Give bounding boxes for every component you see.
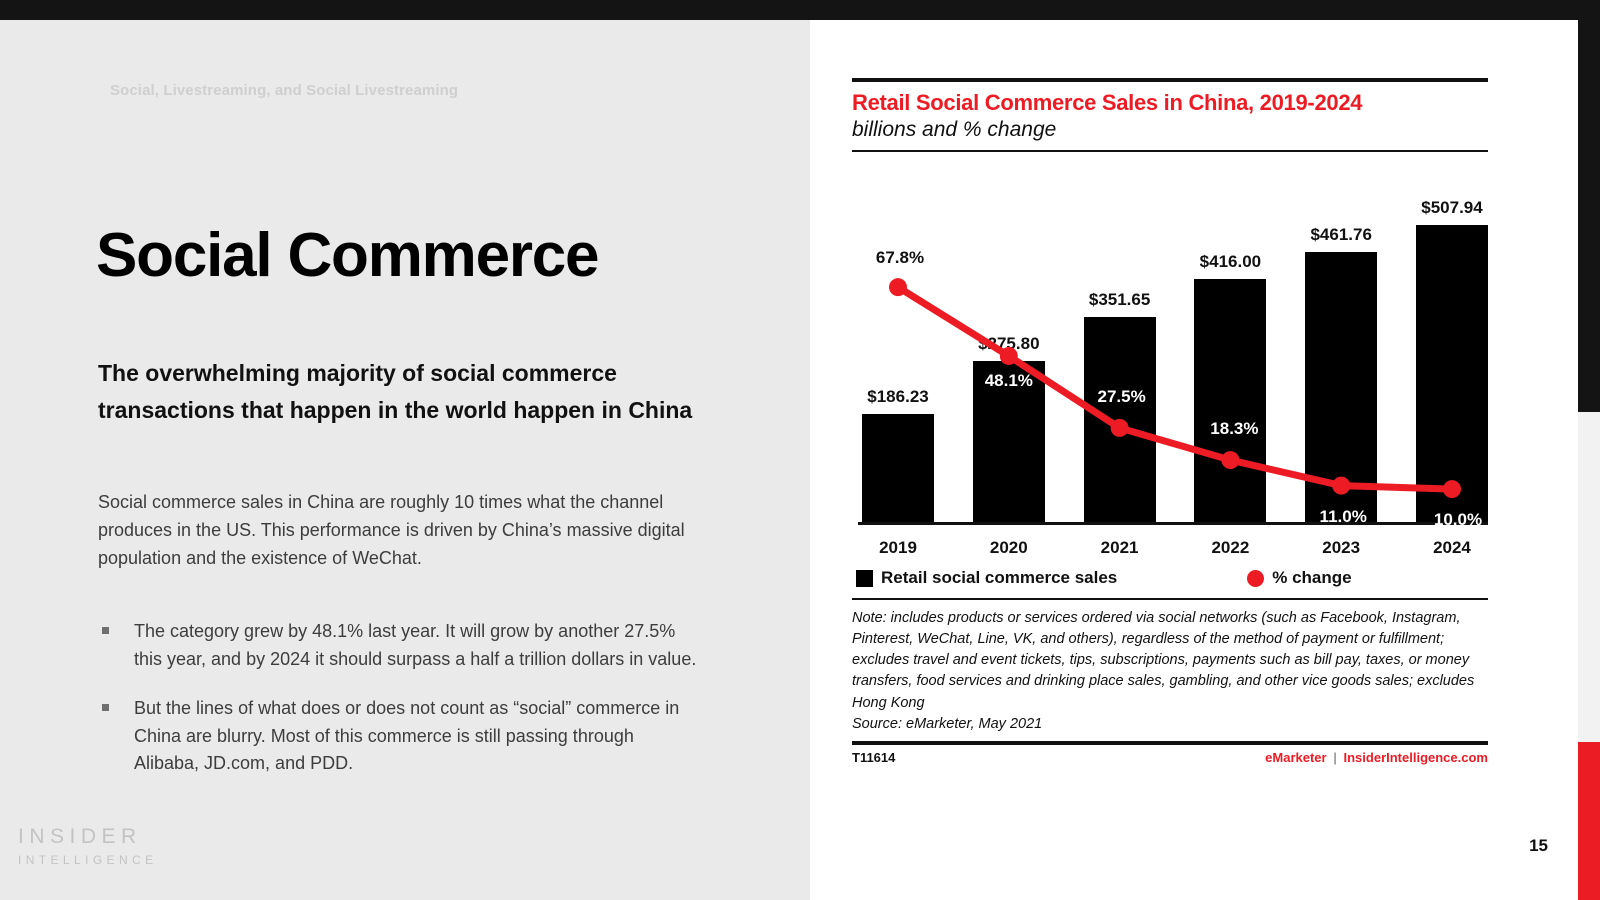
legend-square-icon [856, 570, 873, 587]
percent-change-value-label: 48.1% [985, 371, 1033, 391]
bar-value-label: $416.00 [1200, 252, 1261, 272]
list-item-text: But the lines of what does or does not c… [134, 698, 679, 773]
chart-note: Note: includes products or services orde… [852, 608, 1488, 714]
list-item: The category grew by 48.1% last year. It… [98, 618, 698, 673]
bar-value-label: $351.65 [1089, 290, 1150, 310]
bar-value-label: $186.23 [867, 387, 928, 407]
right-edge-dark-strip [1578, 0, 1600, 412]
bullet-square-icon [102, 627, 109, 634]
chart-plot-area: $186.23$275.80$351.65$416.00$461.76$507.… [852, 176, 1488, 566]
legend-circle-icon [1247, 570, 1264, 587]
percent-change-value-label: 27.5% [1097, 387, 1145, 407]
bar-slot: $275.80 [973, 194, 1045, 524]
bar-slot: $507.94 [1416, 194, 1488, 524]
bar[interactable] [1194, 279, 1266, 524]
top-accent-bar [0, 0, 1600, 20]
bullet-square-icon [102, 704, 109, 711]
x-axis-tick-label: 2019 [862, 538, 934, 558]
list-item-text: The category grew by 48.1% last year. It… [134, 621, 696, 669]
x-axis-line [858, 522, 1488, 525]
chart-card: Retail Social Commerce Sales in China, 2… [852, 78, 1488, 765]
chart-title: Retail Social Commerce Sales in China, 2… [852, 90, 1488, 116]
bar-value-label: $507.94 [1421, 198, 1482, 218]
bar[interactable] [1084, 317, 1156, 524]
legend-item-pct-change: % change [1247, 568, 1351, 588]
bar[interactable] [862, 414, 934, 524]
bar-value-label: $275.80 [978, 334, 1039, 354]
chart-code: T11614 [852, 750, 895, 765]
chart-note-rule [852, 598, 1488, 600]
brand-emarketer: eMarketer [1265, 750, 1326, 765]
x-axis-tick-label: 2023 [1305, 538, 1377, 558]
right-edge-gray-strip [1578, 412, 1600, 742]
percent-change-value-label: 67.8% [876, 248, 924, 268]
chart-footer: T11614 eMarketer | InsiderIntelligence.c… [852, 750, 1488, 765]
bar[interactable] [1416, 225, 1488, 524]
x-axis-tick-label: 2024 [1416, 538, 1488, 558]
x-axis-tick-labels: 201920202021202220232024 [862, 538, 1488, 558]
right-edge-red-strip [1578, 742, 1600, 900]
chart-header-rule [852, 150, 1488, 152]
logo-line-intelligence: INTELLIGENCE [18, 853, 158, 867]
bar-slot: $461.76 [1305, 194, 1377, 524]
x-axis-tick-label: 2021 [1084, 538, 1156, 558]
chart-subtitle: billions and % change [852, 118, 1488, 142]
x-axis-tick-label: 2020 [973, 538, 1045, 558]
x-axis-tick-label: 2022 [1194, 538, 1266, 558]
bar-value-label: $461.76 [1310, 225, 1371, 245]
brand-separator: | [1333, 750, 1337, 765]
insider-intelligence-logo: INSIDER INTELLIGENCE [18, 825, 158, 867]
chart-legend: Retail social commerce sales % change [852, 568, 1488, 588]
logo-line-insider: INSIDER [18, 825, 158, 849]
list-item: But the lines of what does or does not c… [98, 695, 698, 778]
bar-slot: $186.23 [862, 194, 934, 524]
bar-slot: $416.00 [1194, 194, 1266, 524]
slide-left-panel: Social, Livestreaming, and Social Livest… [0, 20, 810, 900]
slide-eyebrow: Social, Livestreaming, and Social Livest… [110, 82, 458, 99]
legend-label-pct-change: % change [1272, 568, 1351, 588]
percent-change-value-label: 18.3% [1210, 419, 1258, 439]
brand-insiderintelligence[interactable]: InsiderIntelligence.com [1344, 750, 1489, 765]
bar[interactable] [1305, 252, 1377, 524]
chart-brand: eMarketer | InsiderIntelligence.com [1265, 750, 1488, 765]
slide-lede: The overwhelming majority of social comm… [98, 355, 708, 430]
bar-series: $186.23$275.80$351.65$416.00$461.76$507.… [862, 194, 1488, 524]
bar-slot: $351.65 [1084, 194, 1156, 524]
percent-change-value-label: 11.0% [1320, 507, 1367, 527]
chart-source: Source: eMarketer, May 2021 [852, 714, 1488, 735]
page-title: Social Commerce [96, 220, 598, 291]
slide-body-copy: Social commerce sales in China are rough… [98, 488, 698, 572]
chart-top-rule [852, 78, 1488, 82]
chart-footer-rule [852, 741, 1488, 745]
legend-item-sales: Retail social commerce sales [856, 568, 1117, 588]
percent-change-value-label: 10.0% [1434, 510, 1482, 530]
legend-label-sales: Retail social commerce sales [881, 568, 1117, 588]
page-number: 15 [1529, 836, 1548, 856]
slide-bullet-list: The category grew by 48.1% last year. It… [98, 618, 698, 800]
